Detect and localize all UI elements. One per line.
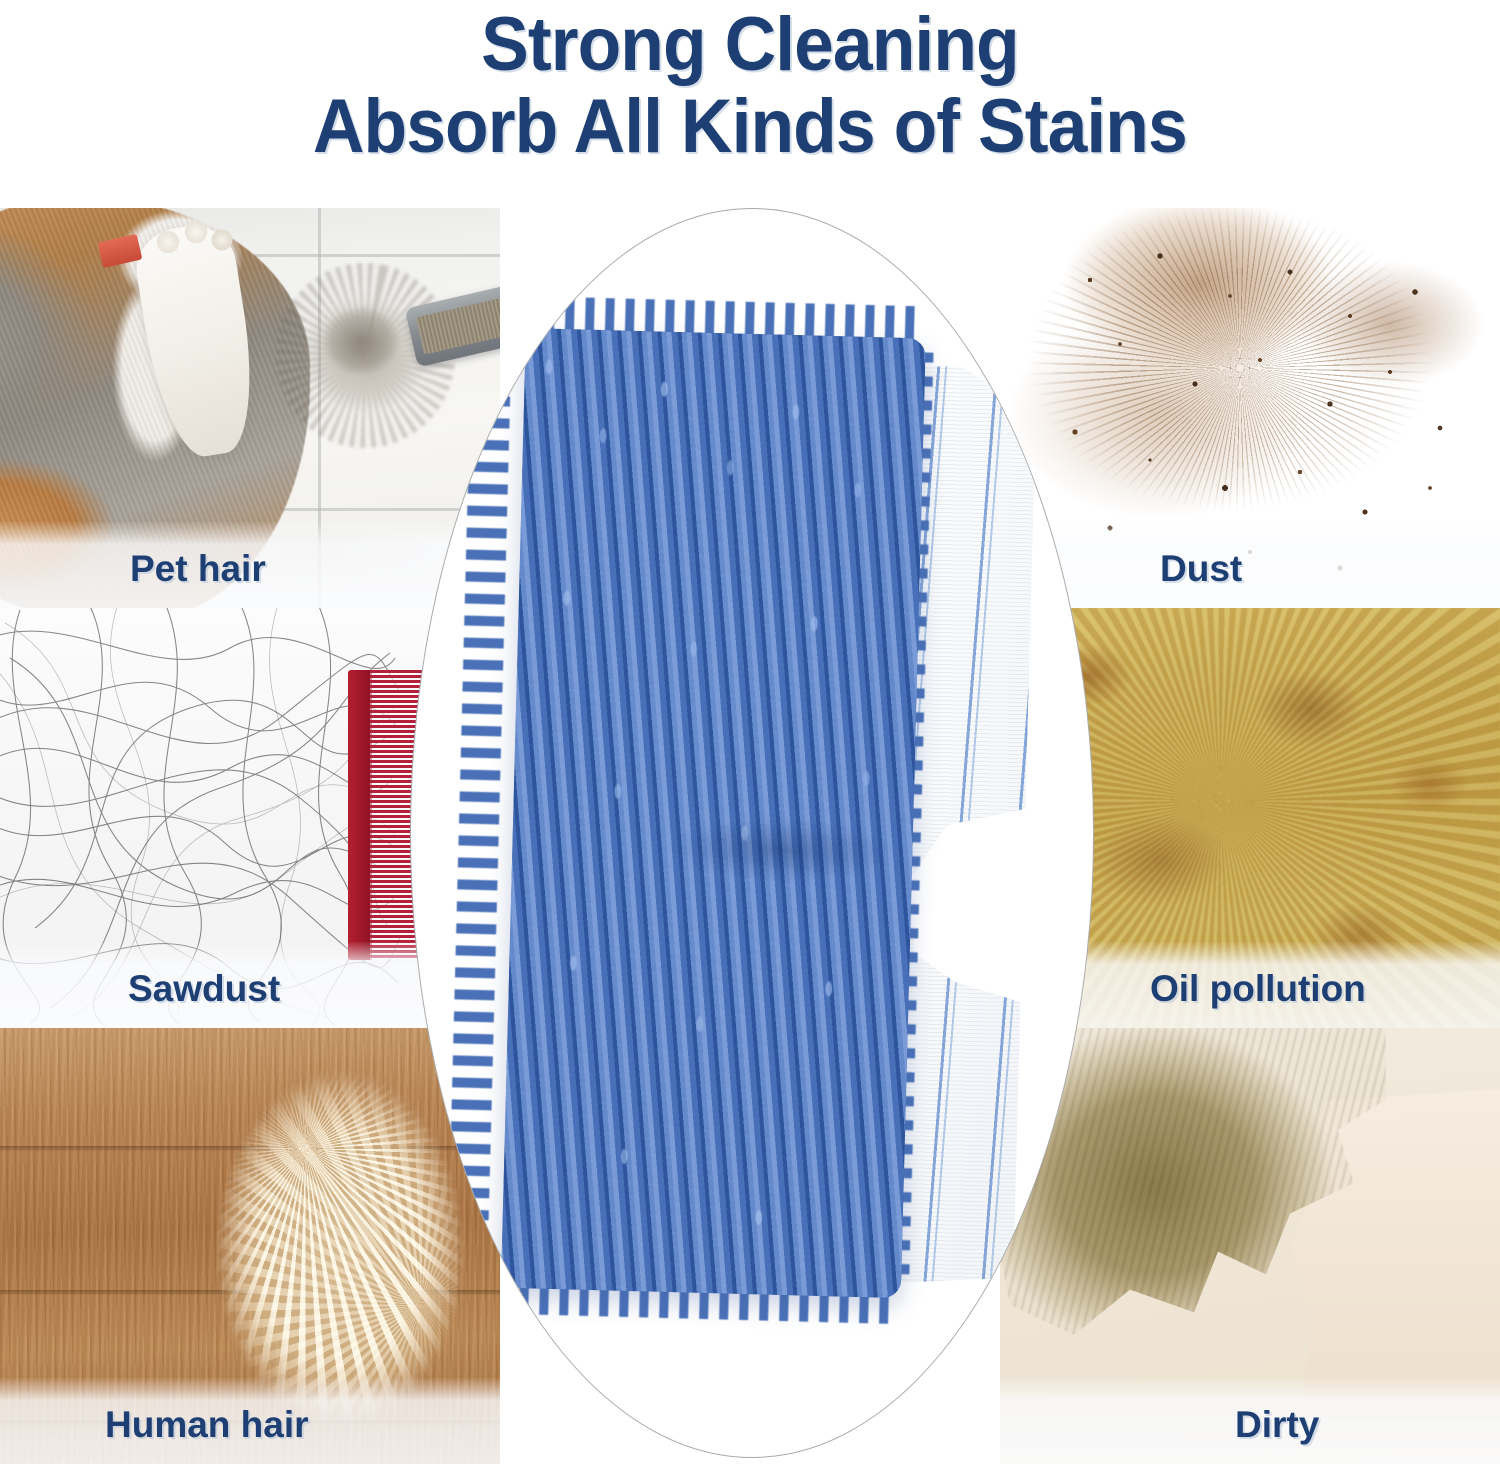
label-backdrop: [0, 522, 500, 608]
page-title-line-2: Absorb All Kinds of Stains: [313, 84, 1187, 166]
chenille-noodle-pad: [501, 328, 926, 1298]
dog-toes: [150, 216, 245, 278]
panel-pet-hair: Pet hair: [0, 208, 500, 608]
label-backdrop: [1000, 1378, 1500, 1464]
product-oval-frame: [410, 208, 1094, 1458]
header-banner: Strong Cleaning Absorb All Kinds of Stai…: [0, 0, 1500, 200]
panel-human-hair: Human hair: [0, 1028, 500, 1464]
mop-pad-product: [476, 319, 1094, 1334]
page-title-line-1: Strong Cleaning: [481, 0, 1019, 84]
comb-spine: [348, 670, 372, 960]
label-backdrop: [0, 1378, 500, 1464]
